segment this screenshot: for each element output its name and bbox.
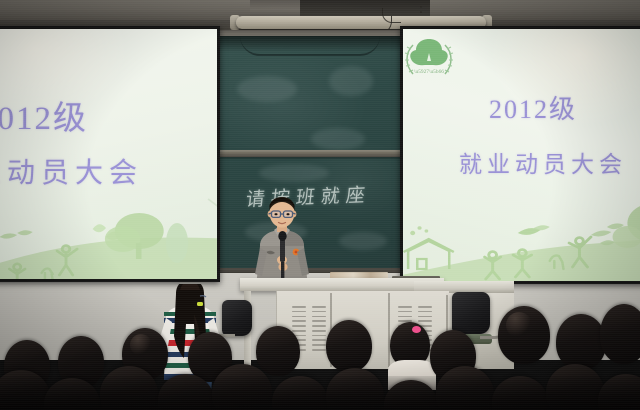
audience-head [256, 326, 300, 376]
right-slide-line1: 2012级 [489, 89, 577, 126]
lecture-hall-photo: 请按班就座 [0, 0, 640, 410]
right-projection-screen: \u5927\u5b66 [400, 26, 640, 284]
right-slide-eco-graphic [403, 195, 640, 281]
audience-head [600, 304, 640, 364]
svg-text:\u5927\u5b66: \u5927\u5b66 [414, 69, 444, 75]
right-slide-line2: 就业动员大会 [459, 145, 627, 179]
chalk-tray-rail [219, 150, 405, 157]
left-slide-line1: 2012级 [0, 91, 88, 139]
pink-hair-tie-icon [412, 326, 421, 333]
left-slide-eco-graphic [0, 193, 217, 279]
hanging-cable-2-icon [382, 8, 401, 23]
seated-audience [0, 292, 640, 410]
audience-head [326, 320, 372, 372]
left-slide-line2: 业动员大会 [0, 151, 143, 191]
university-logo-icon: \u5927\u5b66 [403, 31, 457, 85]
audience-shadow [0, 376, 640, 410]
blackboard-arc-mark [240, 36, 380, 56]
left-projection-screen: 2012级 业动员大会 [0, 26, 220, 282]
audience-head [556, 314, 606, 370]
presenter [240, 196, 324, 288]
